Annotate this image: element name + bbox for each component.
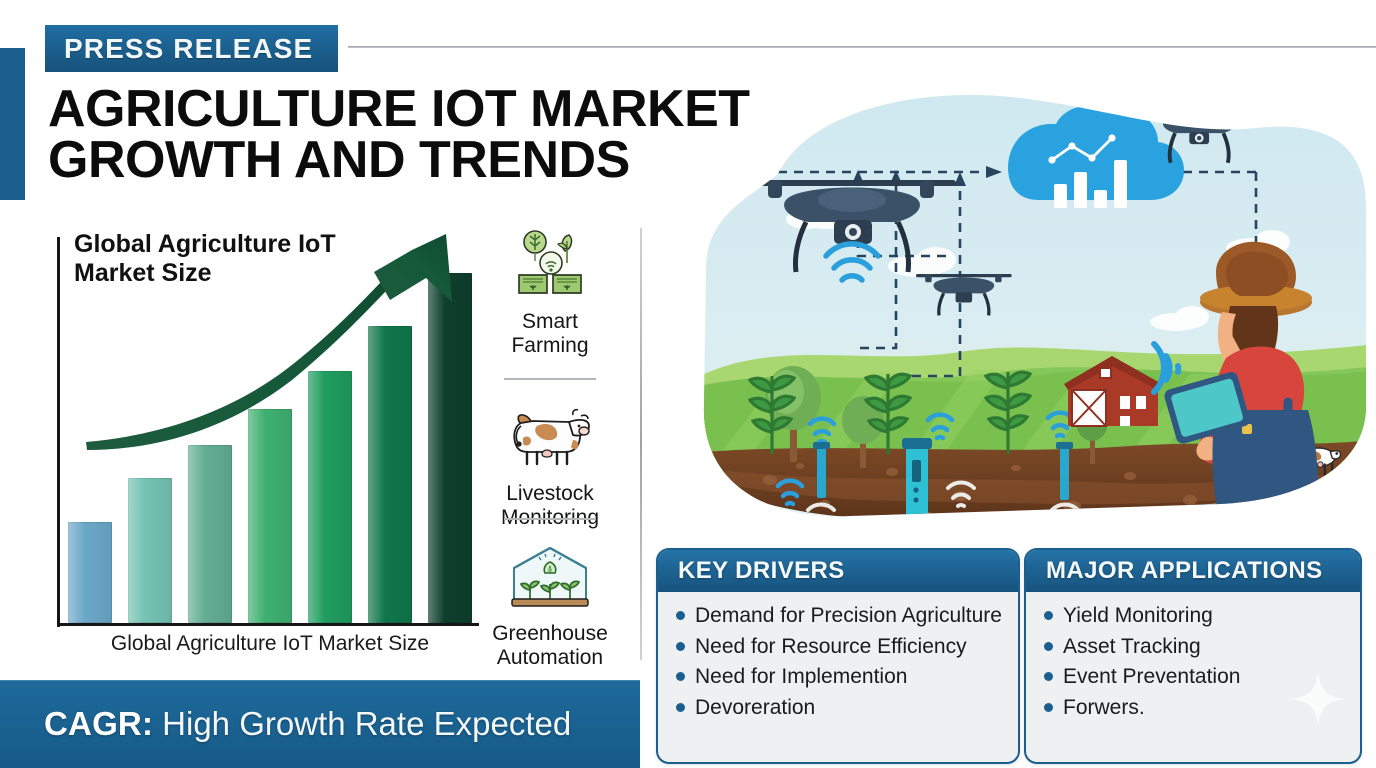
list-item[interactable]: Devoreration [676, 694, 1004, 722]
chart-bar [128, 478, 171, 623]
bullet-icon [1044, 642, 1053, 651]
key-drivers-title: KEY DRIVERS [678, 557, 845, 585]
livestock-cow-icon [480, 394, 620, 480]
chart-bars [60, 237, 480, 623]
chart-x-axis [57, 623, 479, 626]
cagr-value: High Growth Rate Expected [162, 705, 571, 743]
list-item-label: Yield Monitoring [1063, 602, 1213, 630]
chart-bar [428, 273, 471, 623]
feature-label-smart-farming: Smart Farming [480, 310, 620, 357]
list-item-label: Need for Resource Efficiency [695, 633, 967, 661]
major-applications-title: MAJOR APPLICATIONS [1046, 557, 1323, 585]
infographic-page: PRESS RELEASE AGRICULTURE IOT MARKET GRO… [0, 0, 1376, 768]
smart-farming-icon [480, 222, 620, 308]
chart-bar [368, 326, 411, 623]
press-release-label: PRESS RELEASE [64, 33, 313, 65]
major-applications-header: MAJOR APPLICATIONS [1026, 550, 1360, 592]
press-release-badge: PRESS RELEASE [45, 25, 338, 72]
smart-farm-iot-illustration [660, 76, 1376, 540]
list-item[interactable]: Asset Tracking [1044, 633, 1346, 661]
major-applications-card: MAJOR APPLICATIONS Yield Monitoring Asse… [1024, 548, 1362, 764]
feature-greenhouse-automation[interactable]: Greenhouse Automation [480, 534, 620, 669]
chart-x-axis-label: Global Agriculture IoT Market Size [36, 632, 504, 656]
icon-separator-2 [504, 518, 596, 520]
cagr-banner: CAGR: High Growth Rate Expected [0, 680, 640, 768]
feature-label-greenhouse: Greenhouse Automation [480, 622, 620, 669]
list-item[interactable]: Demand for Precision Agriculture [676, 602, 1004, 630]
feature-label-line2: Automation [480, 646, 620, 670]
chart-bar [248, 409, 291, 623]
feature-label-livestock: Livestock Monitoring [480, 482, 620, 529]
feature-label-line2: Farming [480, 334, 620, 358]
feature-smart-farming[interactable]: Smart Farming [480, 222, 620, 357]
chart-bar [188, 445, 231, 623]
bullet-icon [1044, 672, 1053, 681]
bullet-icon [676, 642, 685, 651]
bullet-icon [676, 672, 685, 681]
list-item-label: Need for Implemention [695, 663, 907, 691]
list-item-label: Event Preventation [1063, 663, 1240, 691]
key-drivers-list: Demand for Precision Agriculture Need fo… [658, 592, 1018, 733]
feature-label-line1: Livestock [480, 482, 620, 506]
list-item[interactable]: Need for Implemention [676, 663, 1004, 691]
feature-icon-list: Smart Farming [480, 222, 620, 652]
feature-livestock-monitoring[interactable]: Livestock Monitoring [480, 394, 620, 529]
list-item-label: Forwers. [1063, 694, 1145, 722]
bullet-icon [1044, 611, 1053, 620]
chart-bar [68, 522, 111, 623]
key-drivers-card: KEY DRIVERS Demand for Precision Agricul… [656, 548, 1020, 764]
list-item[interactable]: Need for Resource Efficiency [676, 633, 1004, 661]
page-title-line1: AGRICULTURE IOT MARKET [48, 80, 750, 138]
key-drivers-header: KEY DRIVERS [658, 550, 1018, 592]
header-divider-rule [348, 46, 1376, 48]
feature-label-line1: Smart [480, 310, 620, 334]
list-item-label: Demand for Precision Agriculture [695, 602, 1002, 630]
section-vertical-divider [640, 228, 642, 660]
bullet-icon [1044, 703, 1053, 712]
bullet-icon [676, 611, 685, 620]
list-item-label: Devoreration [695, 694, 815, 722]
cagr-label: CAGR: [44, 705, 153, 743]
icon-separator-1 [504, 378, 596, 380]
list-item[interactable]: Yield Monitoring [1044, 602, 1346, 630]
greenhouse-icon [480, 534, 620, 620]
list-item-label: Asset Tracking [1063, 633, 1201, 661]
major-applications-list: Yield Monitoring Asset Tracking Event Pr… [1026, 592, 1360, 733]
chart-bar [308, 371, 351, 623]
feature-label-line1: Greenhouse [480, 622, 620, 646]
left-accent-bar [0, 48, 25, 200]
sparkle-decoration-icon [1292, 673, 1344, 725]
bullet-icon [676, 703, 685, 712]
